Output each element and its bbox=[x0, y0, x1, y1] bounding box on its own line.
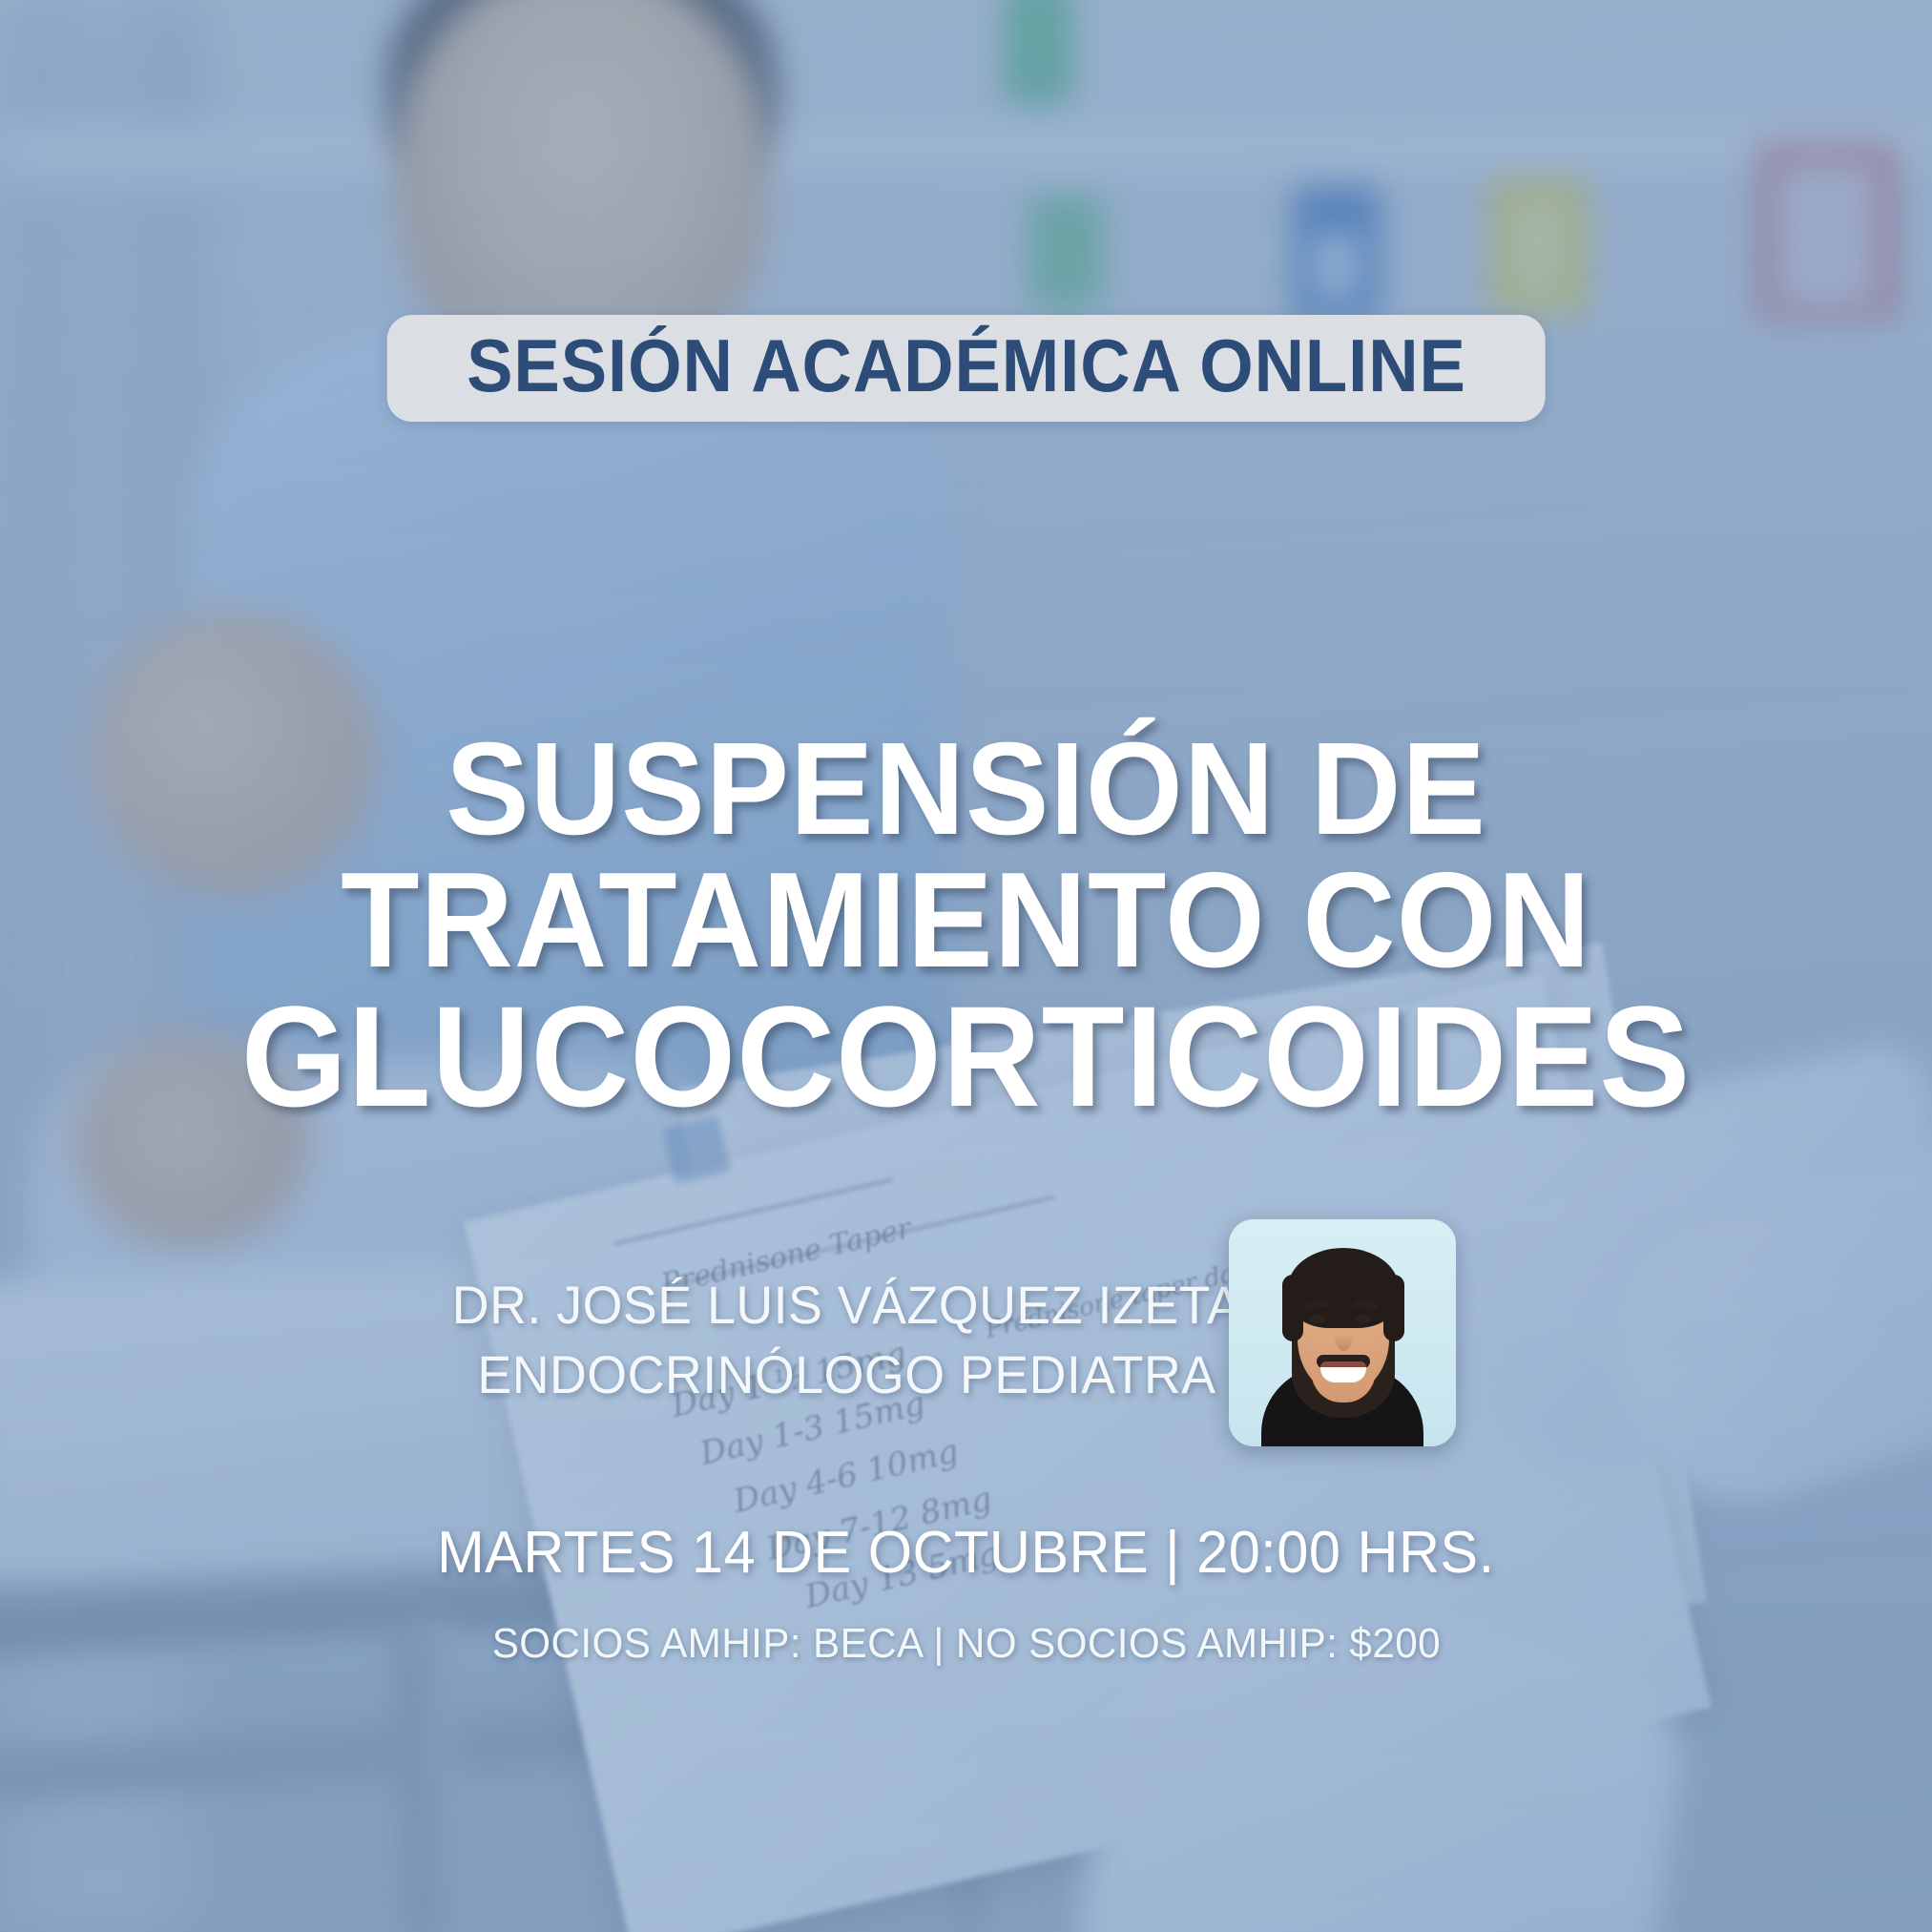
event-datetime: MARTES 14 DE OCTUBRE | 20:00 HRS. bbox=[0, 1519, 1932, 1587]
speaker-avatar bbox=[1229, 1219, 1456, 1446]
event-poster: Prednisone Taper Prednisone taper daily … bbox=[0, 0, 1932, 1932]
avatar-eye-right bbox=[1356, 1315, 1372, 1323]
avatar-nose bbox=[1335, 1322, 1353, 1351]
title-line-3: GLUCOCORTICOIDES bbox=[49, 987, 1884, 1127]
avatar-smile bbox=[1320, 1366, 1366, 1382]
page-title: SUSPENSIÓN DE TRATAMIENTO CON GLUCOCORTI… bbox=[0, 725, 1932, 1127]
title-line-1: SUSPENSIÓN DE bbox=[49, 725, 1884, 854]
avatar-eye-left bbox=[1310, 1315, 1326, 1323]
poster-content: SESIÓN ACADÉMICA ONLINE SUSPENSIÓN DE TR… bbox=[0, 0, 1932, 1932]
session-type-badge: SESIÓN ACADÉMICA ONLINE bbox=[386, 315, 1546, 422]
event-pricing: SOCIOS AMHIP: BECA | NO SOCIOS AMHIP: $2… bbox=[0, 1620, 1932, 1668]
avatar-hair bbox=[1288, 1248, 1399, 1328]
session-type-label: SESIÓN ACADÉMICA ONLINE bbox=[467, 328, 1466, 403]
title-line-2: TRATAMIENTO CON bbox=[49, 854, 1884, 987]
event-pricing-text: SOCIOS AMHIP: BECA | NO SOCIOS AMHIP: $2… bbox=[491, 1620, 1440, 1668]
event-datetime-text: MARTES 14 DE OCTUBRE | 20:00 HRS. bbox=[437, 1519, 1495, 1587]
